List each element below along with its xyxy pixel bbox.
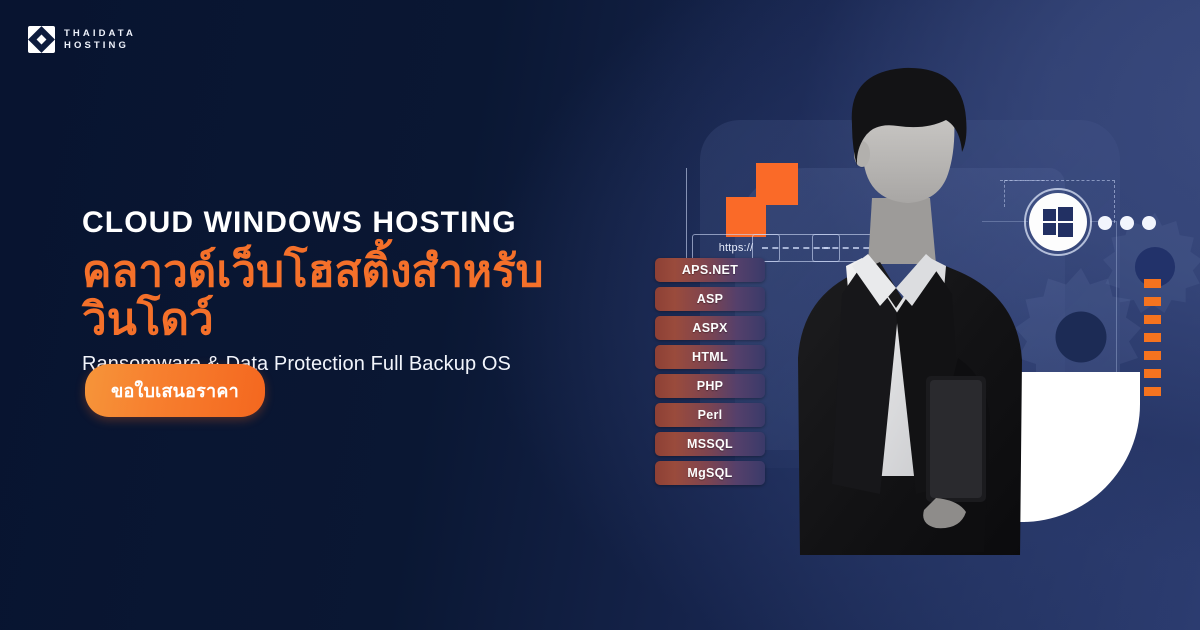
thaidata-diamond-logo-icon [28, 26, 55, 53]
brand-logo[interactable]: THAIDATA HOSTING [28, 26, 136, 53]
tech-stack-list: APS.NET ASP ASPX HTML PHP Perl MSSQL MgS… [655, 258, 765, 490]
brand-name: THAIDATA HOSTING [64, 28, 136, 50]
orange-tick [1144, 387, 1161, 396]
hero-banner: https:// [0, 0, 1200, 630]
tech-pill[interactable]: ASPX [655, 316, 765, 340]
orange-tick [1144, 279, 1161, 288]
request-quote-button[interactable]: ขอใบเสนอราคา [85, 364, 265, 417]
tech-pill[interactable]: PHP [655, 374, 765, 398]
connector-line [1116, 221, 1117, 389]
three-dots-icon [1120, 216, 1134, 230]
orange-tick [1144, 297, 1161, 306]
tech-pill[interactable]: Perl [655, 403, 765, 427]
tech-pill[interactable]: MgSQL [655, 461, 765, 485]
hero-headline: คลาวด์เว็บโฮสติ้งสำหรับวินโดว์ [82, 248, 642, 343]
brand-name-line1: THAIDATA [64, 28, 136, 39]
tech-pill-label: Perl [698, 408, 723, 422]
tech-pill[interactable]: ASP [655, 287, 765, 311]
three-dots-icon [1098, 216, 1112, 230]
three-dots-icon [1142, 216, 1156, 230]
tech-pill[interactable]: MSSQL [655, 432, 765, 456]
tech-pill-label: MSSQL [687, 437, 733, 451]
orange-tick [1144, 315, 1161, 324]
tech-pill-label: MgSQL [687, 466, 732, 480]
businessman-photo [740, 58, 1050, 558]
orange-tick [1144, 333, 1161, 342]
orange-tick [1144, 369, 1161, 378]
tech-pill-label: APS.NET [682, 263, 738, 277]
tech-pill[interactable]: HTML [655, 345, 765, 369]
tech-pill-label: PHP [697, 379, 724, 393]
tech-pill[interactable]: APS.NET [655, 258, 765, 282]
tech-pill-label: HTML [692, 350, 728, 364]
tech-pill-label: ASPX [692, 321, 727, 335]
hero-eyebrow: CLOUD WINDOWS HOSTING [82, 206, 642, 240]
orange-tick [1144, 351, 1161, 360]
tech-pill-label: ASP [697, 292, 724, 306]
hero-copy: CLOUD WINDOWS HOSTING คลาวด์เว็บโฮสติ้งส… [82, 206, 642, 376]
brand-name-line2: HOSTING [64, 40, 136, 51]
